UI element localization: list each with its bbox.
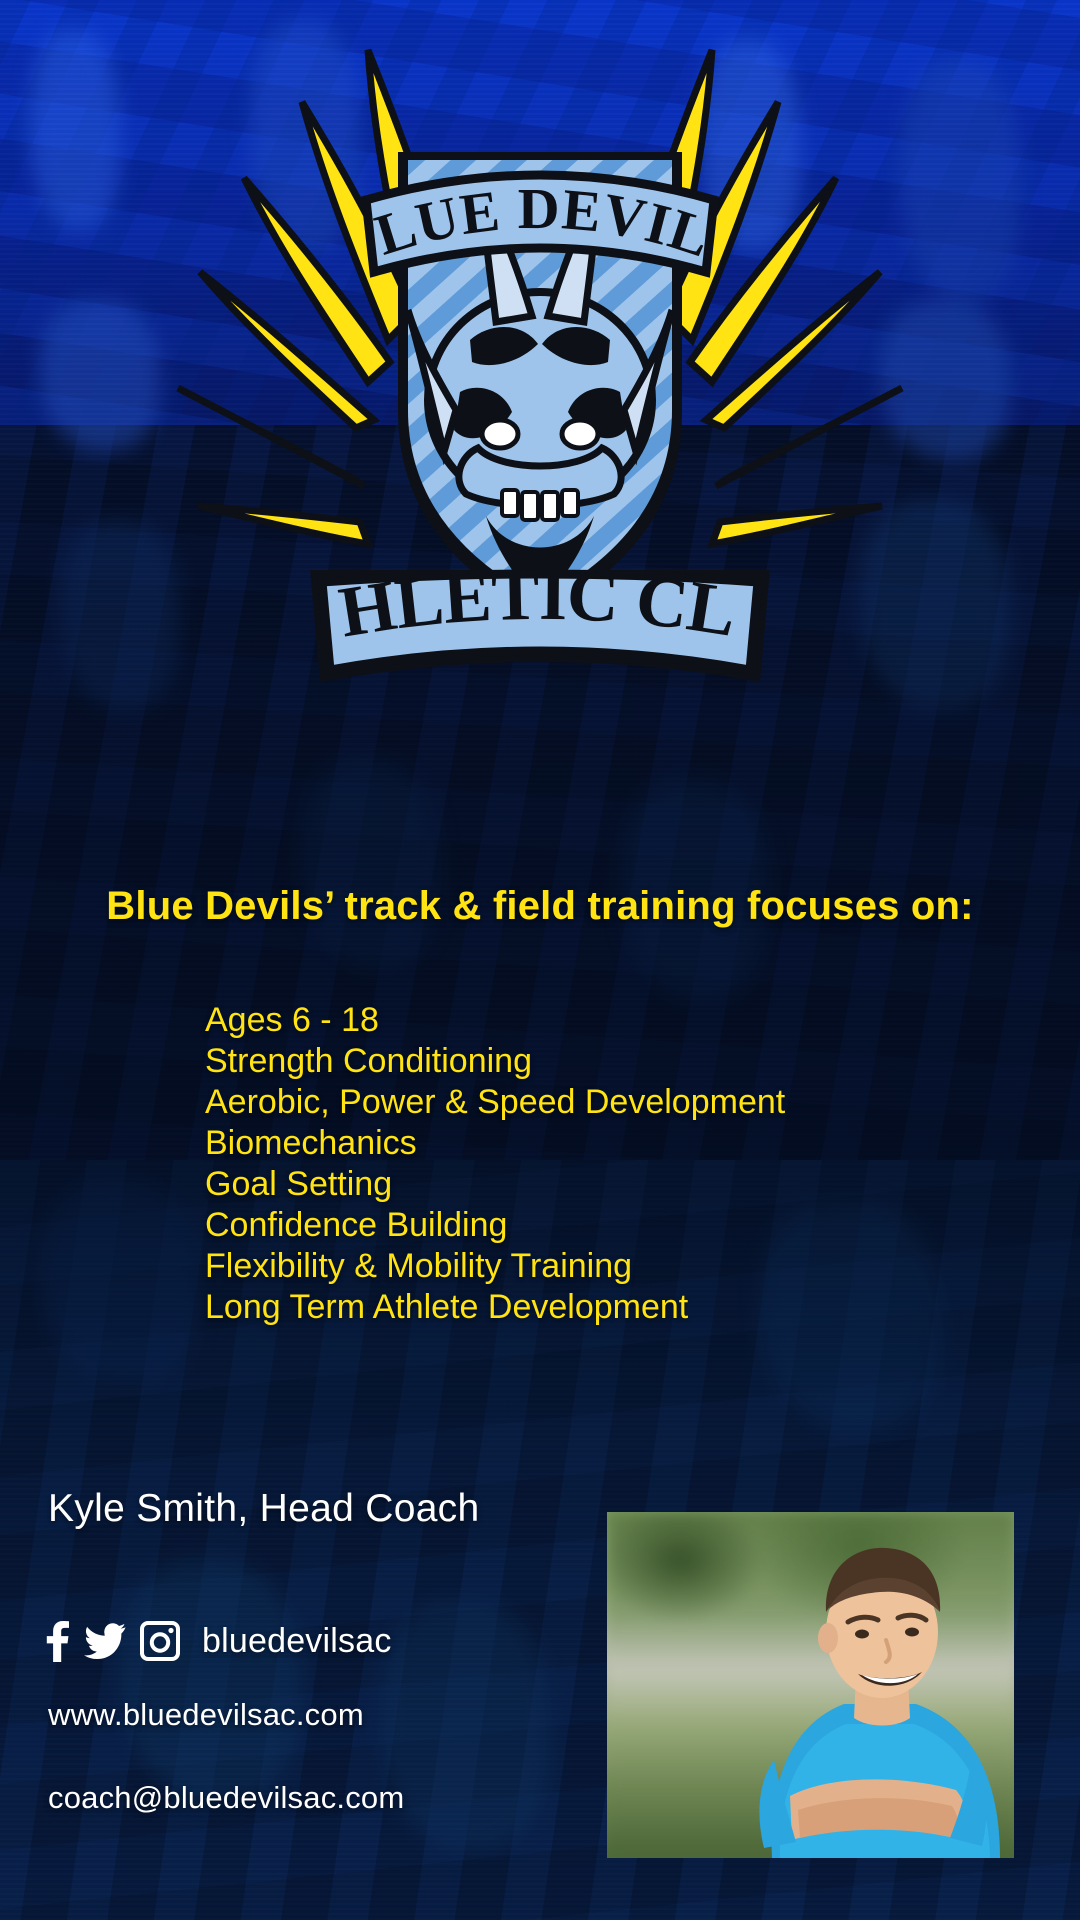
coach-portrait-figure [720, 1528, 1014, 1858]
logo-top-banner-text: BLUE DEVILS [160, 10, 719, 270]
focus-list-item: Strength Conditioning [205, 1041, 985, 1082]
focus-list-item: Aerobic, Power & Speed Development [205, 1082, 985, 1123]
email-text[interactable]: coach@bluedevilsac.com [48, 1780, 404, 1816]
focus-list-item: Confidence Building [205, 1205, 985, 1246]
svg-text:BLUE DEVILS: BLUE DEVILS [160, 10, 719, 270]
club-logo: BLUE DEVILS ATHLETIC CLUB [0, 10, 1080, 710]
coach-photo [607, 1512, 1014, 1858]
focus-list-item: Goal Setting [205, 1164, 985, 1205]
social-row: bluedevilsac [44, 1620, 392, 1662]
social-handle: bluedevilsac [202, 1622, 392, 1661]
headline-text: Blue Devils’ track & field training focu… [0, 884, 1080, 929]
logo-top-banner: BLUE DEVILS [160, 10, 719, 272]
focus-list-item: Long Term Athlete Development [205, 1287, 985, 1328]
focus-list-item: Ages 6 - 18 [205, 1000, 985, 1041]
poster-root: BLUE DEVILS ATHLETIC CLUB Blue Devils’ t… [0, 0, 1080, 1920]
instagram-icon[interactable] [140, 1621, 180, 1661]
focus-list-item: Biomechanics [205, 1123, 985, 1164]
coach-name: Kyle Smith, Head Coach [48, 1487, 479, 1531]
twitter-icon[interactable] [84, 1620, 126, 1662]
club-logo-svg: BLUE DEVILS ATHLETIC CLUB [160, 10, 920, 710]
facebook-icon[interactable] [44, 1620, 70, 1662]
focus-list: Ages 6 - 18 Strength Conditioning Aerobi… [205, 1000, 985, 1328]
website-text[interactable]: www.bluedevilsac.com [48, 1697, 364, 1733]
focus-list-item: Flexibility & Mobility Training [205, 1246, 985, 1287]
